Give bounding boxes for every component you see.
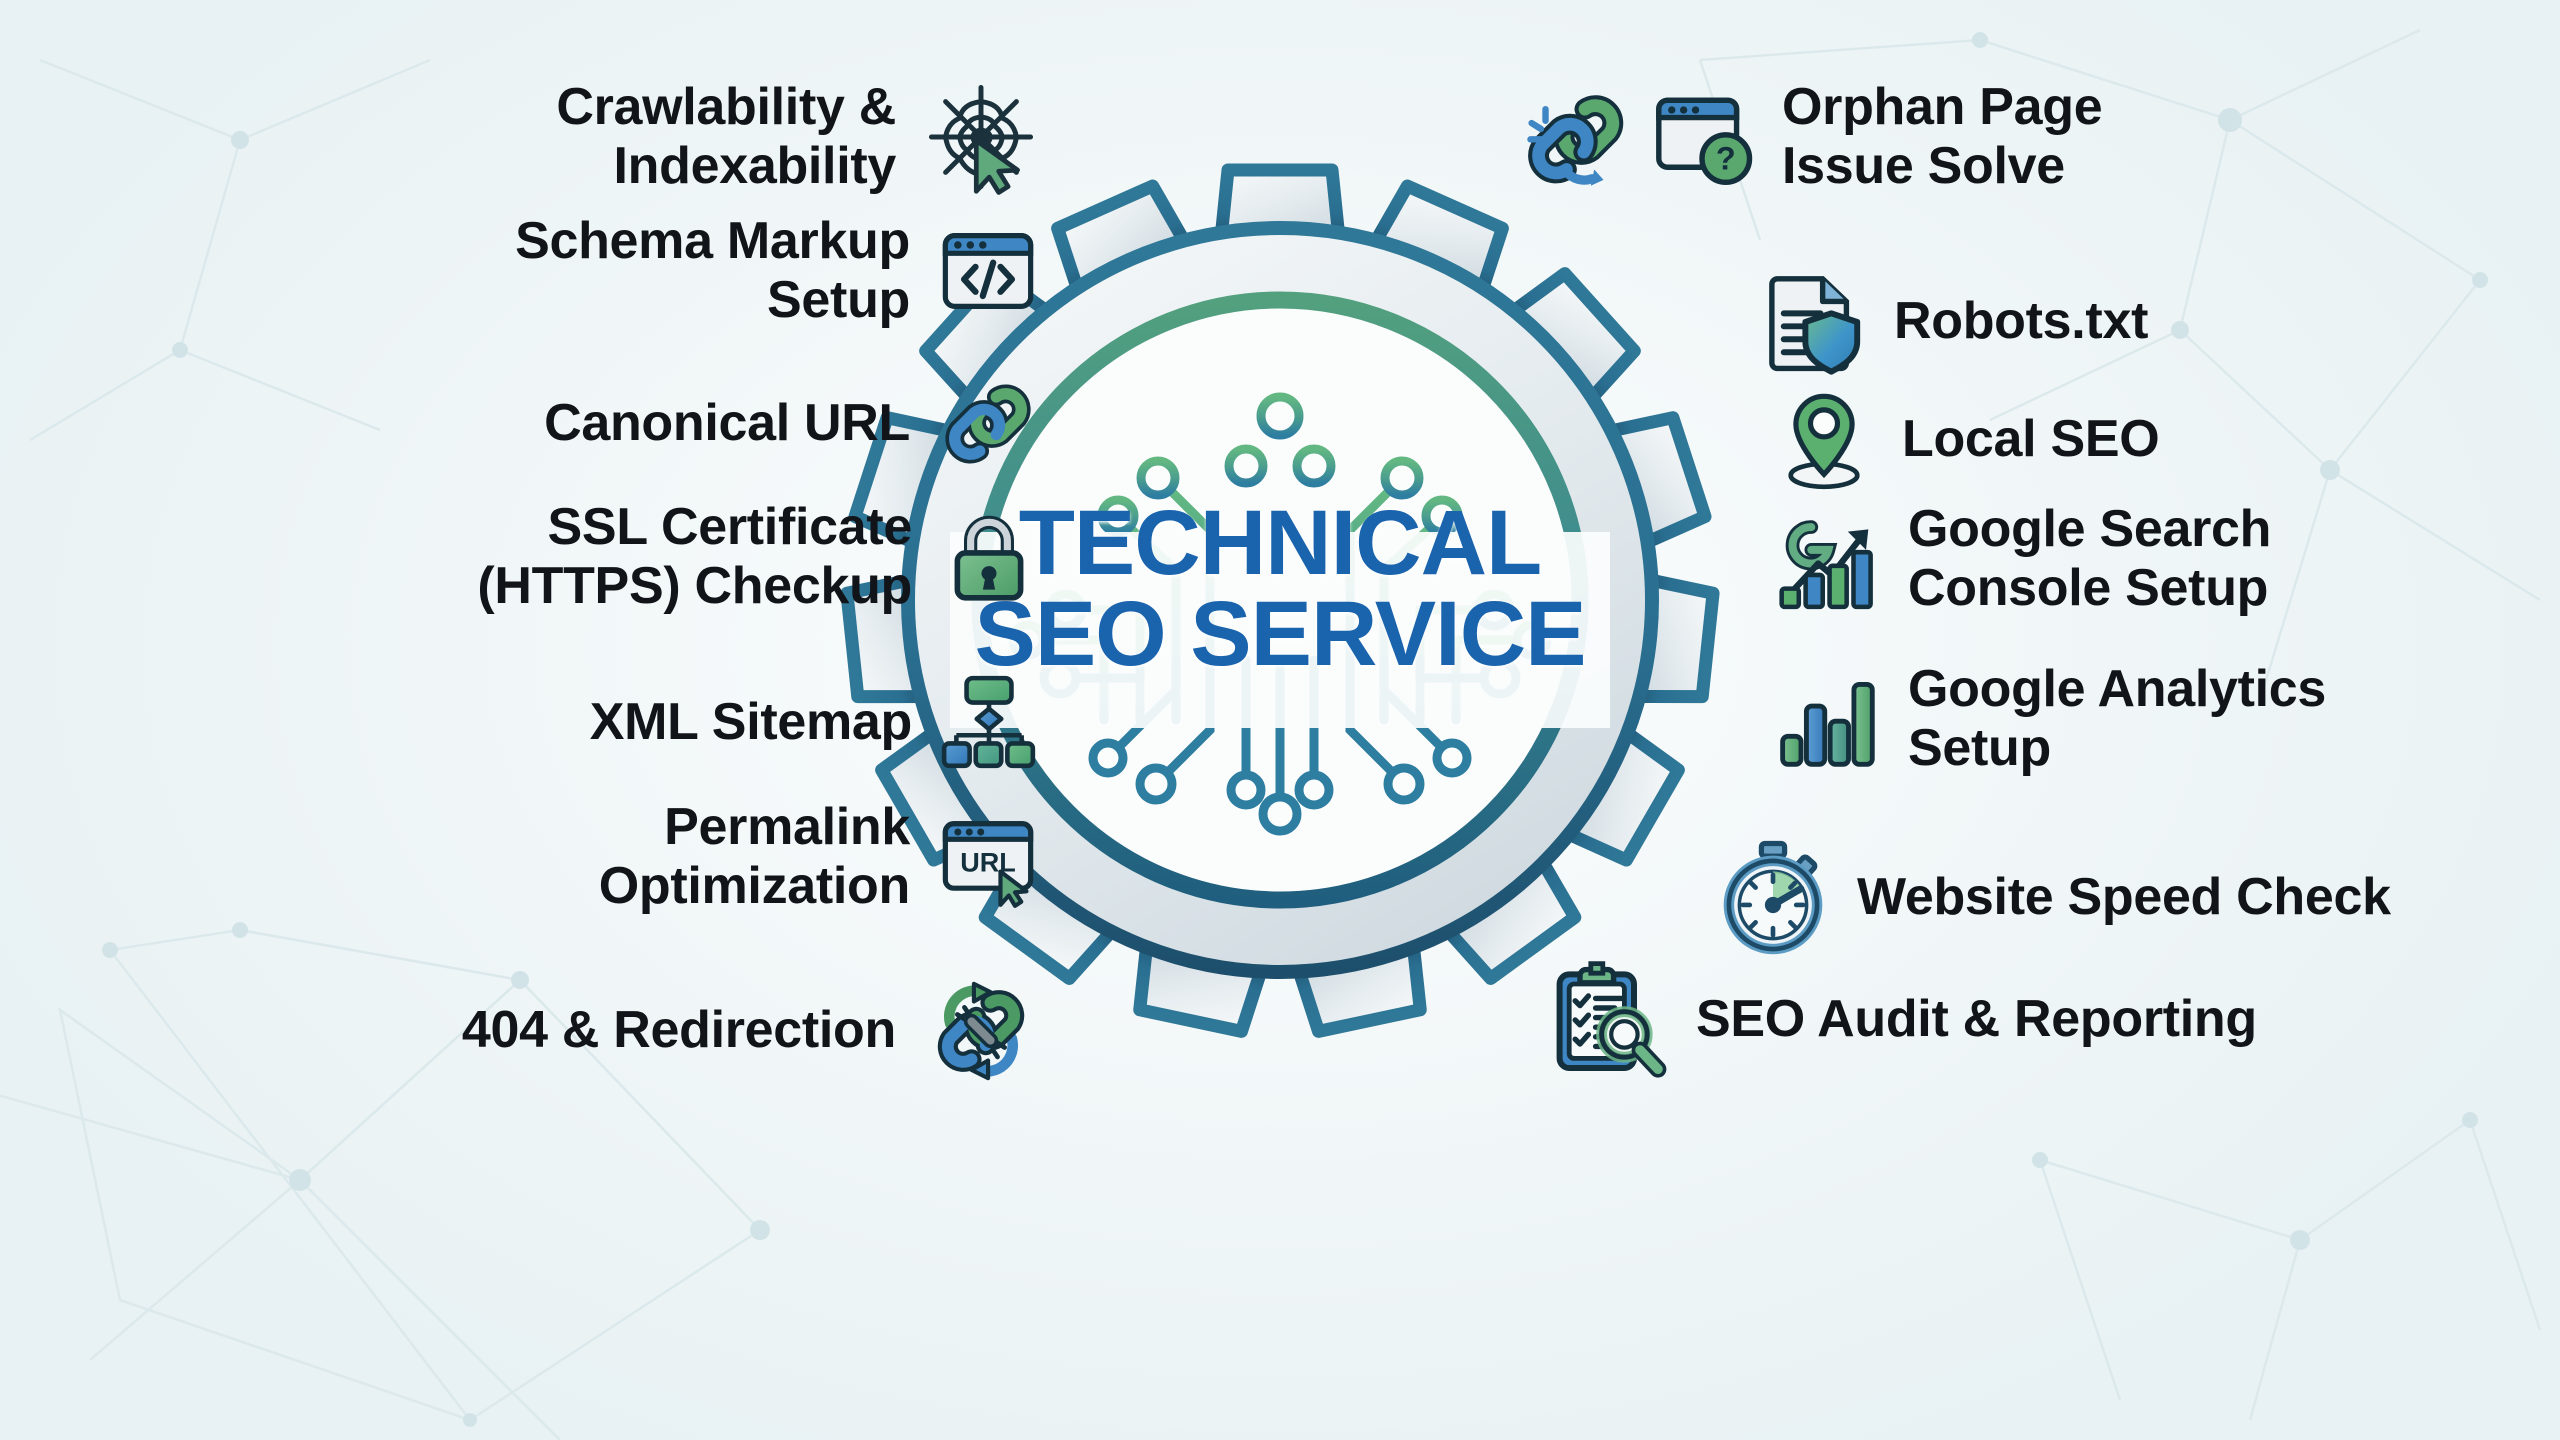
stopwatch-icon — [1715, 840, 1831, 956]
feature-website-speed[interactable]: Website Speed Check — [1715, 840, 2391, 956]
feature-xml-sitemap[interactable]: XML Sitemap — [590, 672, 1040, 774]
chain-link-icon — [936, 372, 1040, 476]
feature-canonical-url[interactable]: Canonical URL — [544, 372, 1040, 476]
feature-permalink-optimization[interactable]: Permalink Optimization URL — [599, 798, 1040, 917]
feature-crawlability[interactable]: Crawlability & Indexability — [556, 78, 1040, 197]
sitemap-tree-icon — [938, 672, 1040, 774]
browser-question-icon: ? — [1648, 83, 1756, 191]
left-feature-column: Crawlability & Indexability Schema Marku… — [40, 0, 1040, 1440]
logo-title: TECHNICAL SEO SERVICE — [830, 498, 1730, 680]
feature-label: Orphan Page Issue Solve — [1782, 78, 2102, 197]
feature-google-analytics[interactable]: Google Analytics Setup — [1774, 660, 2326, 779]
feature-label: Google Search Console Setup — [1908, 500, 2271, 619]
spider-web-cursor-icon — [922, 78, 1040, 196]
feature-label: Local SEO — [1902, 410, 2159, 469]
code-browser-icon — [936, 219, 1040, 323]
feature-schema-markup[interactable]: Schema Markup Setup — [515, 212, 1040, 331]
feature-robots-txt[interactable]: Robots.txt — [1760, 268, 2148, 376]
broken-link-redirect-icon — [922, 972, 1040, 1090]
svg-text:URL: URL — [960, 848, 1016, 878]
feature-local-seo[interactable]: Local SEO — [1772, 388, 2159, 492]
feature-404-redirection[interactable]: 404 & Redirection — [462, 972, 1040, 1090]
clipboard-magnifier-icon — [1550, 960, 1670, 1080]
bar-chart-icon — [1774, 665, 1882, 773]
google-growth-chart-icon — [1768, 502, 1882, 616]
feature-label: XML Sitemap — [590, 693, 912, 752]
feature-label: 404 & Redirection — [462, 1001, 896, 1060]
feature-label: Schema Markup Setup — [515, 212, 910, 331]
document-shield-icon — [1760, 268, 1868, 376]
feature-label: Website Speed Check — [1857, 868, 2391, 927]
url-browser-cursor-icon: URL — [936, 805, 1040, 909]
feature-label: Permalink Optimization — [599, 798, 910, 917]
feature-label: Crawlability & Indexability — [556, 78, 896, 197]
feature-label: Canonical URL — [544, 394, 910, 453]
feature-label: SEO Audit & Reporting — [1696, 990, 2257, 1049]
infographic-canvas: TECHNICAL SEO SERVICE Crawlability & Ind… — [0, 0, 2560, 1440]
svg-text:?: ? — [1716, 141, 1736, 177]
feature-label: Google Analytics Setup — [1908, 660, 2326, 779]
feature-label: Robots.txt — [1894, 292, 2148, 351]
map-pin-icon — [1772, 388, 1876, 492]
feature-seo-audit[interactable]: SEO Audit & Reporting — [1550, 960, 2257, 1080]
feature-google-search-console[interactable]: Google Search Console Setup — [1768, 500, 2271, 619]
broken-chain-icon — [1520, 79, 1636, 195]
feature-orphan-page[interactable]: ? Orphan Page Issue Solve — [1520, 78, 2102, 197]
right-feature-column: ? Orphan Page Issue Solve Robots.txt — [1520, 0, 2520, 1440]
